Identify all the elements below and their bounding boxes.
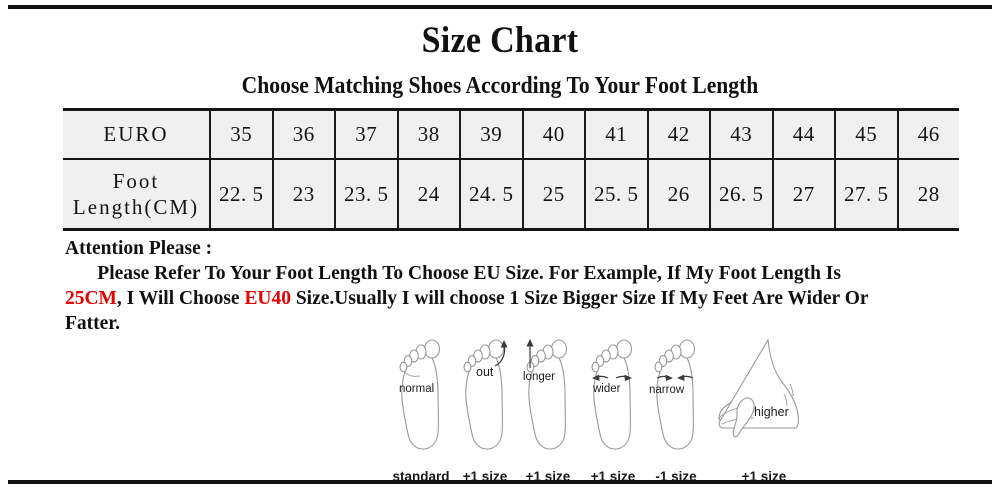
length-cell: 25. 5 [585,159,648,230]
size-chart-page: Size Chart Choose Matching Shoes Accordi… [0,0,1000,500]
row-header-foot-length: Foot Length(CM) [63,159,210,230]
length-cell: 24 [398,159,461,230]
euro-cell: 39 [460,110,523,160]
euro-cell: 36 [273,110,336,160]
euro-cell: 41 [585,110,648,160]
foot-sole-wider-icon: wider [582,336,644,454]
length-cell: 23. 5 [335,159,398,230]
attention-body: Please Refer To Your Foot Length To Choo… [65,261,901,336]
foot-diagram-strip: normal standard out +1 size [390,336,820,486]
page-title: Size Chart [40,22,960,61]
length-cell: 27. 5 [835,159,898,230]
foot-diagram-wider: wider +1 size [582,336,644,486]
top-rule [8,5,992,9]
foot-diagram-out: out +1 size [454,336,516,486]
length-cell: 23 [273,159,336,230]
length-cell: 24. 5 [460,159,523,230]
attention-heading: Attention Please : [65,236,901,261]
foot-label-narrow: narrow [649,384,685,396]
euro-cell: 44 [773,110,836,160]
attention-highlight-length: 25CM [65,287,117,309]
table-row-foot-length: Foot Length(CM) 22. 5 23 23. 5 24 24. 5 … [63,159,959,230]
euro-cell: 40 [523,110,586,160]
euro-cell: 38 [398,110,461,160]
attention-text-part1: Please Refer To Your Foot Length To Choo… [97,262,841,284]
foot-label-higher: higher [754,405,789,419]
foot-label-longer: longer [523,371,555,383]
length-cell: 22. 5 [210,159,273,230]
foot-label-out: out [476,365,494,379]
euro-cell: 43 [710,110,773,160]
row-header-foot-length-line2: Length(CM) [63,194,209,220]
page-subtitle: Choose Matching Shoes According To Your … [50,74,950,99]
foot-profile-higher-icon: higher [708,336,820,454]
length-cell: 26 [648,159,711,230]
foot-label-wider: wider [592,383,621,395]
row-header-euro: EURO [63,110,210,160]
length-cell: 25 [523,159,586,230]
attention-text-part2: , I Will Choose [117,287,245,309]
euro-cell: 42 [648,110,711,160]
foot-diagram-narrow: narrow -1 size [645,336,707,486]
foot-sole-longer-icon: longer [517,336,579,454]
foot-sole-normal-icon: normal [390,336,452,454]
row-header-foot-length-line1: Foot [63,168,209,194]
foot-sole-narrow-icon: narrow [645,336,707,454]
size-table: EURO 35 36 37 38 39 40 41 42 43 44 45 46 [63,108,959,231]
length-cell: 26. 5 [710,159,773,230]
attention-block: Attention Please : Please Refer To Your … [65,236,901,336]
size-table-container: EURO 35 36 37 38 39 40 41 42 43 44 45 46 [63,108,935,231]
attention-highlight-eu-size: EU40 [244,287,291,309]
foot-diagram-longer: longer +1 size [517,336,579,486]
foot-label-normal: normal [399,383,434,395]
euro-cell: 46 [898,110,960,160]
bottom-rule [8,480,992,484]
euro-cell: 45 [835,110,898,160]
foot-diagram-normal: normal standard [390,336,452,486]
euro-cell: 37 [335,110,398,160]
euro-cell: 35 [210,110,273,160]
foot-sole-out-icon: out [454,336,516,454]
table-row-euro: EURO 35 36 37 38 39 40 41 42 43 44 45 46 [63,110,959,160]
length-cell: 27 [773,159,836,230]
length-cell: 28 [898,159,960,230]
foot-diagram-higher: higher +1 size [708,336,820,486]
